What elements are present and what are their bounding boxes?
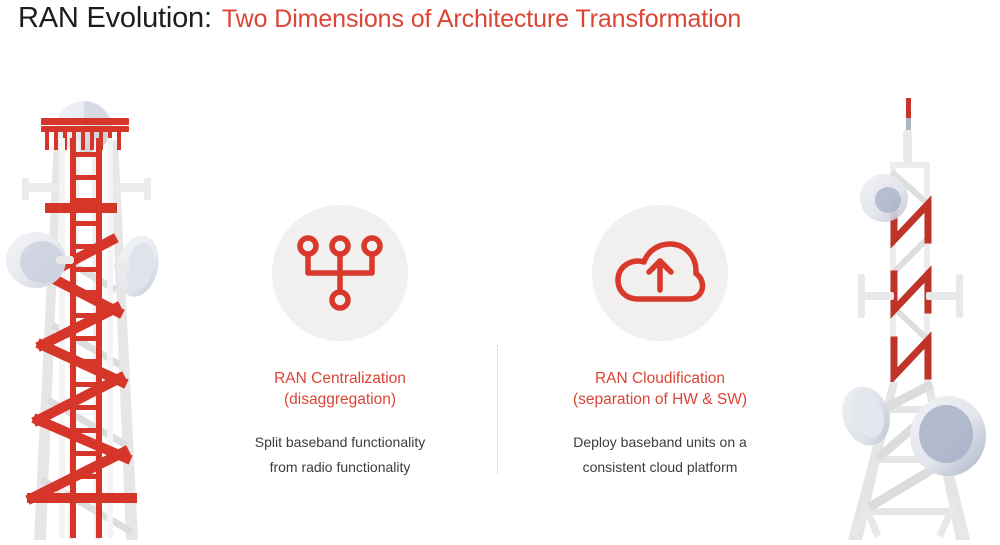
- column-ran-centralization: RAN Centralization (disaggregation) Spli…: [180, 195, 500, 495]
- ran-centralization-heading-line1: RAN Centralization: [274, 368, 406, 389]
- ran-cloudification-body-line2: consistent cloud platform: [573, 455, 747, 480]
- ran-cloudification-heading: RAN Cloudification (separation of HW & S…: [573, 368, 747, 410]
- ran-centralization-icon-circle: [272, 205, 408, 341]
- column-ran-cloudification: RAN Cloudification (separation of HW & S…: [500, 195, 820, 495]
- hierarchy-split-icon: [297, 235, 383, 311]
- ran-centralization-body: Split baseband functionality from radio …: [255, 430, 425, 480]
- ran-cloudification-heading-line1: RAN Cloudification: [573, 368, 747, 389]
- column-divider: [497, 345, 498, 473]
- page-title-main: RAN Evolution:: [18, 2, 212, 35]
- ran-centralization-heading-line2: (disaggregation): [274, 389, 406, 410]
- right-tower-mast: [903, 98, 912, 162]
- page-title-accent: Two Dimensions of Architecture Transform…: [222, 5, 741, 34]
- cloud-upload-icon: [614, 236, 706, 310]
- page-title: RAN Evolution: Two Dimensions of Archite…: [18, 2, 741, 35]
- ran-centralization-heading: RAN Centralization (disaggregation): [274, 368, 406, 410]
- ran-cloudification-heading-line2: (separation of HW & SW): [573, 389, 747, 410]
- left-tower-svg: [0, 80, 175, 540]
- ran-centralization-body-line2: from radio functionality: [255, 455, 425, 480]
- ran-cloudification-icon-circle: [592, 205, 728, 341]
- left-tower-illustration: [0, 80, 175, 545]
- ran-cloudification-body: Deploy baseband units on a consistent cl…: [573, 430, 747, 480]
- right-tower-red-zigzag: [894, 204, 928, 376]
- right-tower-right-dish: [910, 396, 986, 476]
- ran-centralization-body-line1: Split baseband functionality: [255, 430, 425, 455]
- slide-root: RAN Evolution: Two Dimensions of Archite…: [0, 0, 1000, 540]
- right-tower-upper-dish: [860, 174, 908, 222]
- content-columns: RAN Centralization (disaggregation) Spli…: [180, 195, 820, 495]
- right-tower-illustration: [818, 88, 1000, 545]
- ran-cloudification-body-line1: Deploy baseband units on a: [573, 430, 747, 455]
- right-tower-svg: [818, 88, 1000, 540]
